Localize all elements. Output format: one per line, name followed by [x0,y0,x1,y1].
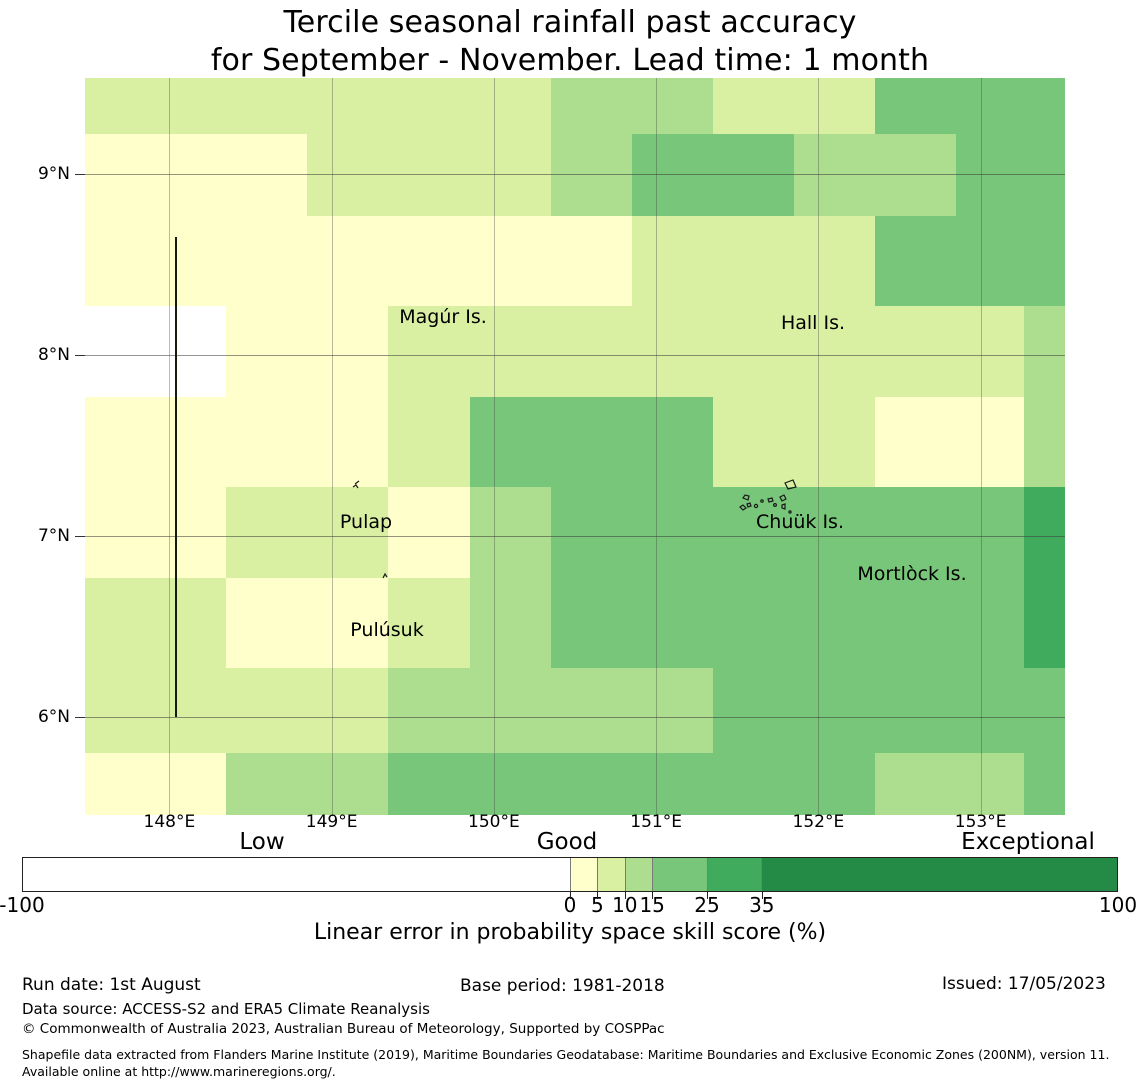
y-tick-mark [75,174,85,175]
colorbar-segment[interactable] [597,858,624,891]
x-tick-label: 151°E [596,812,716,832]
y-tick-mark [75,355,85,356]
footer-run-date: Run date: 1st August [22,975,201,995]
footer-issued-date: Issued: 17/05/2023 [942,974,1106,994]
footer-data-source: Data source: ACCESS-S2 and ERA5 Climate … [22,1000,430,1018]
island-outline-shapes [85,78,1065,815]
y-tick-label: 7°N [0,526,70,546]
colorbar-tick-mark [652,892,653,899]
footer-copyright: © Commonwealth of Australia 2023, Austra… [22,1021,665,1037]
colorbar-segment[interactable] [707,858,762,891]
colorbar-tick-label: 100 [1073,893,1140,917]
colorbar[interactable] [22,857,1118,892]
y-tick-label: 8°N [0,345,70,365]
colorbar-segment[interactable] [625,858,652,891]
colorbar-segment[interactable] [23,858,570,891]
colorbar-category-label: Low [239,829,284,855]
colorbar-category-label: Good [537,829,598,855]
x-tick-label: 152°E [758,812,878,832]
y-tick-label: 6°N [0,707,70,727]
colorbar-tick-mark [762,892,763,899]
x-tick-label: 148°E [109,812,229,832]
y-tick-label: 9°N [0,164,70,184]
page-title: Tercile seasonal rainfall past accuracy … [0,4,1140,80]
heatmap-plot[interactable]: Magúr Is.Hall Is.PulapChuük Is.PulúsukMo… [85,78,1065,815]
colorbar-segment[interactable] [570,858,597,891]
colorbar-segment[interactable] [652,858,707,891]
x-tick-label: 149°E [272,812,392,832]
colorbar-tick-label: -100 [0,893,67,917]
colorbar-category-label: Exceptional [961,829,1095,855]
footer-base-period: Base period: 1981-2018 [460,976,665,996]
title-line-2: for September - November. Lead time: 1 m… [0,42,1140,80]
colorbar-segment[interactable] [761,858,1117,891]
y-tick-mark [75,536,85,537]
colorbar-axis-label: Linear error in probability space skill … [0,920,1140,945]
colorbar-tick-mark [707,892,708,899]
footer-shapefile-note: Shapefile data extracted from Flanders M… [22,1046,1128,1080]
y-tick-mark [75,717,85,718]
title-line-1: Tercile seasonal rainfall past accuracy [0,4,1140,42]
